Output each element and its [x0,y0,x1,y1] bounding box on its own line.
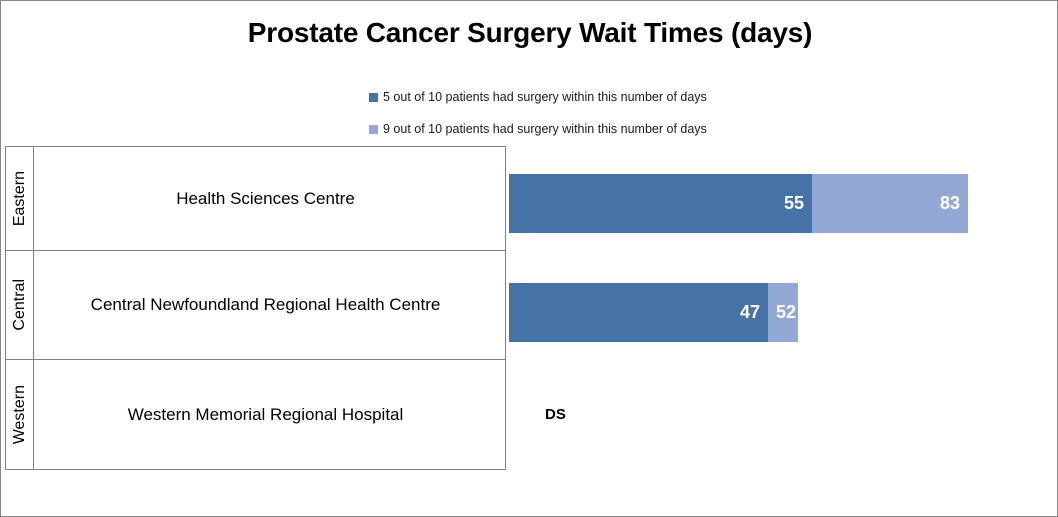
bar-segment-ninetieth-eastern[interactable]: 83 [812,174,968,233]
bar-value-median-central: 47 [740,302,768,323]
bars-layer: 55 83 47 52 DS [5,146,1055,470]
bar-value-median-eastern: 55 [784,193,812,214]
bar-segment-median-eastern[interactable]: 55 [509,174,812,233]
legend-swatch-median-icon [369,93,378,102]
bar-segment-median-central[interactable]: 47 [509,283,768,342]
bar-segment-ninetieth-central[interactable]: 52 [768,283,798,342]
legend-label-ninetieth: 9 out of 10 patients had surgery within … [383,122,707,136]
legend-item-median: 5 out of 10 patients had surgery within … [369,87,789,107]
bar-value-ninetieth-central: 52 [776,302,798,323]
legend-label-median: 5 out of 10 patients had surgery within … [383,90,707,104]
chart-title: Prostate Cancer Surgery Wait Times (days… [1,17,1058,49]
bar-value-ninetieth-eastern: 83 [940,193,968,214]
legend-swatch-ninetieth-icon [369,125,378,134]
bar-group-eastern: 55 83 [509,174,968,233]
legend-item-ninetieth: 9 out of 10 patients had surgery within … [369,119,789,139]
chart-legend: 5 out of 10 patients had surgery within … [369,87,789,151]
bar-note-western: DS [545,406,566,423]
bar-group-central: 47 52 [509,283,798,342]
plot-area: Eastern Health Sciences Centre Central C… [5,146,1055,470]
chart-canvas: Prostate Cancer Surgery Wait Times (days… [0,0,1058,517]
